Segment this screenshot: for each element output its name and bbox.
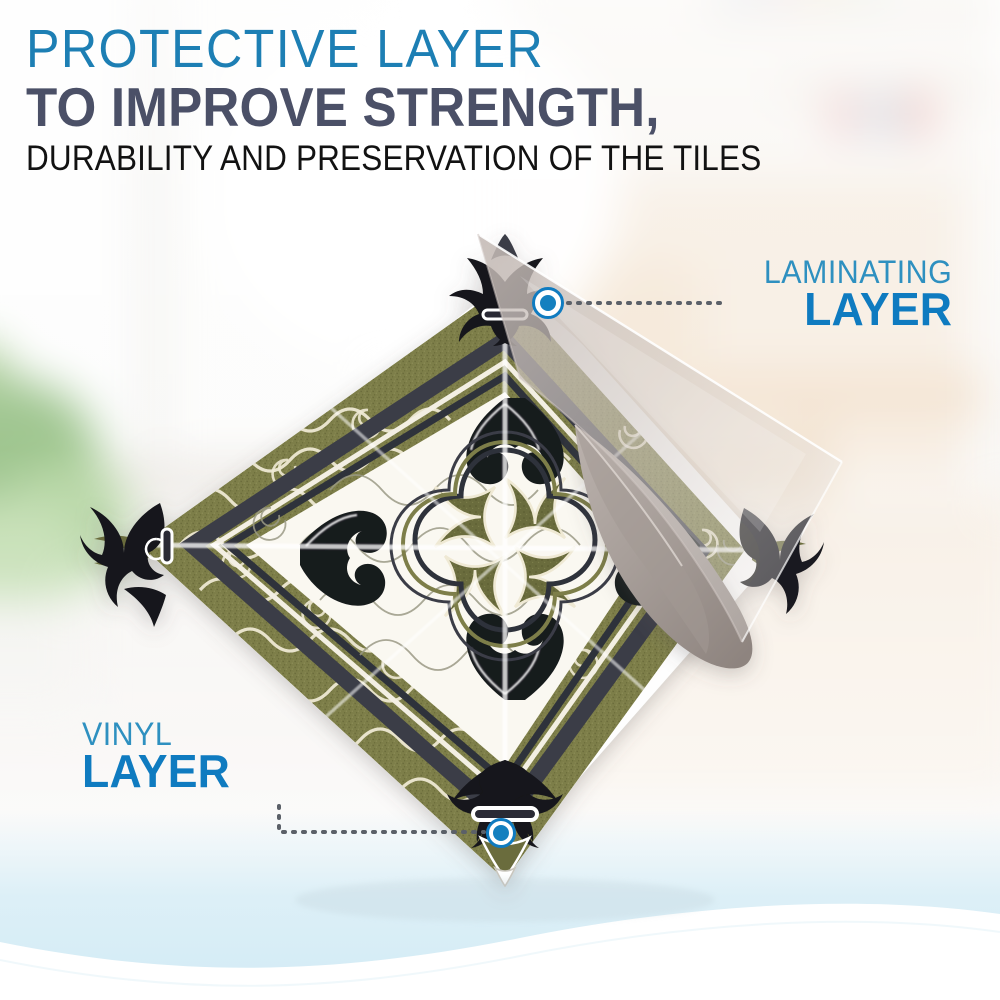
callout-laminating: LAMINATING LAYER <box>754 256 952 332</box>
laminating-marker-dot <box>540 295 556 311</box>
callout-vinyl: VINYL LAYER <box>82 718 235 794</box>
vinyl-dotted-line <box>279 806 484 832</box>
laminating-marker[interactable] <box>532 287 564 319</box>
vinyl-marker[interactable] <box>486 818 516 848</box>
callout-laminating-big: LAYER <box>760 286 952 332</box>
callout-vinyl-big: LAYER <box>82 748 230 794</box>
vinyl-marker-dot <box>493 825 509 841</box>
vinyl-callout-connector <box>0 0 1000 1000</box>
poster-canvas: PROTECTIVE LAYER TO IMPROVE STRENGTH, DU… <box>0 0 1000 1000</box>
